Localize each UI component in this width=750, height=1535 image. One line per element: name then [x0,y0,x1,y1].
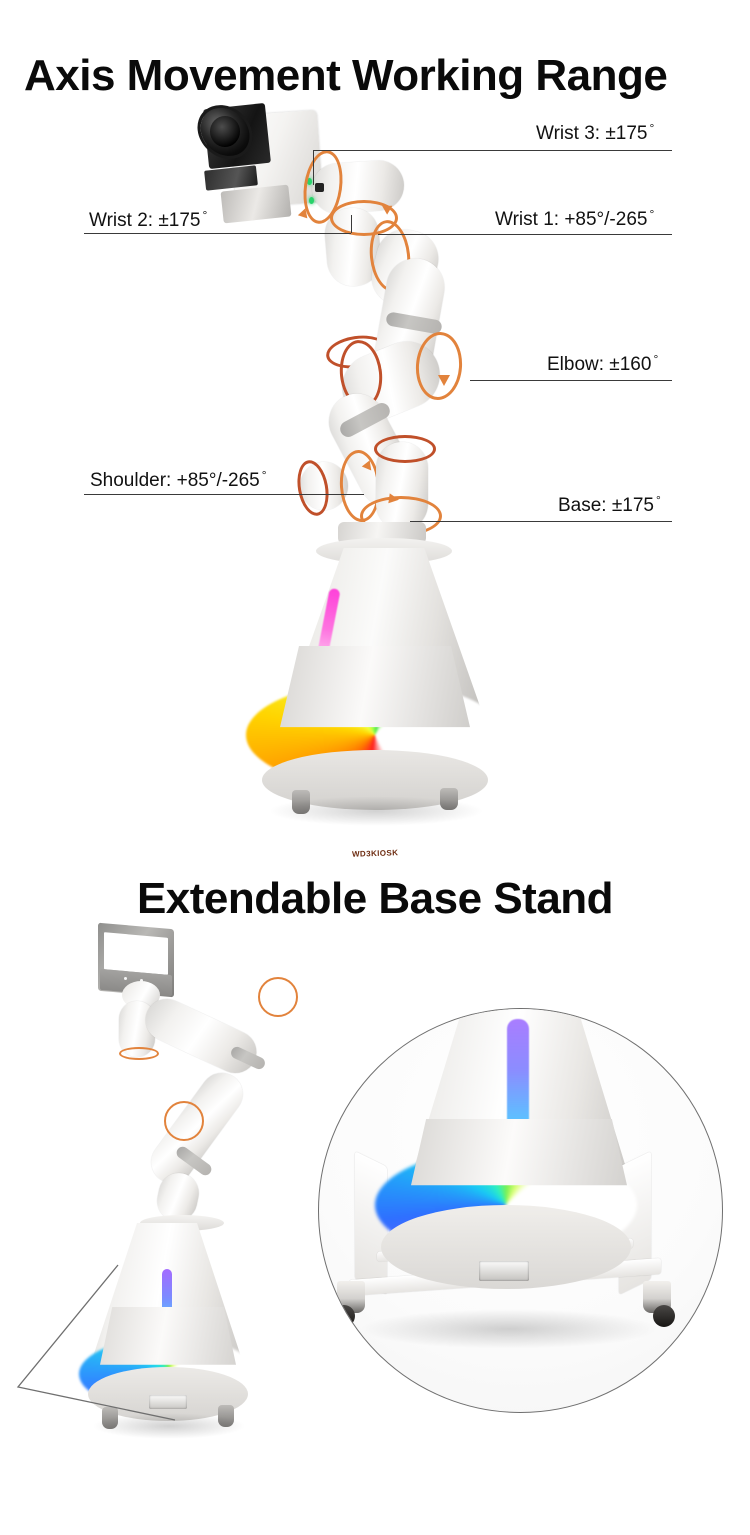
magnifier-inset [318,1008,723,1413]
callout-shoulder-degree: ° [262,468,267,482]
callout-wrist2: Wrist 2: ±175° [87,208,207,234]
infographic-page: Axis Movement Working Range [0,0,750,1535]
callout-wrist2-label: Wrist 2: ±175 [87,210,202,234]
stand-caster-left-wheel [333,1305,355,1327]
wrist-rim-small [119,1047,159,1060]
magnified-drop-shadow [359,1309,659,1349]
leader-line-shoulder-h [84,494,364,495]
camera-neck [221,185,292,224]
callout-elbow: Elbow: ±160° [545,352,658,378]
base-drop-shadow [268,796,484,826]
leader-line-base-h [410,521,672,522]
leader-line-elbow-h [470,380,672,381]
tablet-screw-1 [124,977,127,980]
leader-line-wrist3-h [313,150,672,151]
robot-arm-illustration: WD3KIOSK [0,90,750,820]
callout-base-label: Base: ±175 [556,495,656,519]
callout-base: Base: ±175° [556,493,661,519]
callout-wrist2-degree: ° [202,208,207,222]
callout-wrist3-degree: ° [649,121,654,135]
leader-line-wrist2-v [351,215,352,233]
extendable-base-illustration [0,905,750,1535]
shoulder-ring-small [164,1101,204,1141]
stand-caster-right-wheel [653,1305,675,1327]
callout-elbow-degree: ° [653,352,658,366]
tablet-screen [104,932,168,975]
leader-line-wrist3-v [313,150,314,185]
base-rotation-arrow [388,493,399,504]
leader-line-wrist2-h [84,233,351,234]
callout-wrist1: Wrist 1: +85°/-265° [493,207,654,233]
magnified-base-slot [479,1261,529,1281]
callout-shoulder-label: Shoulder: +85°/-265 [88,470,262,494]
callout-wrist3: Wrist 3: ±175° [534,121,654,147]
leader-line-wrist1-h [378,234,672,235]
callout-base-degree: ° [656,493,661,507]
callout-elbow-label: Elbow: ±160 [545,354,653,378]
elbow-ring-small [258,977,298,1017]
base-joint-top-rim [374,435,436,463]
callout-wrist1-degree: ° [649,207,654,221]
elbow-rotation-arrow [438,375,450,386]
callout-shoulder: Shoulder: +85°/-265° [88,468,267,494]
callout-wrist3-label: Wrist 3: ±175 [534,123,649,147]
camera-lens-inner [210,116,240,147]
base-logo: WD3KIOSK [352,848,399,859]
callout-wrist1-label: Wrist 1: +85°/-265 [493,209,649,233]
forearm-link-small [139,992,264,1080]
